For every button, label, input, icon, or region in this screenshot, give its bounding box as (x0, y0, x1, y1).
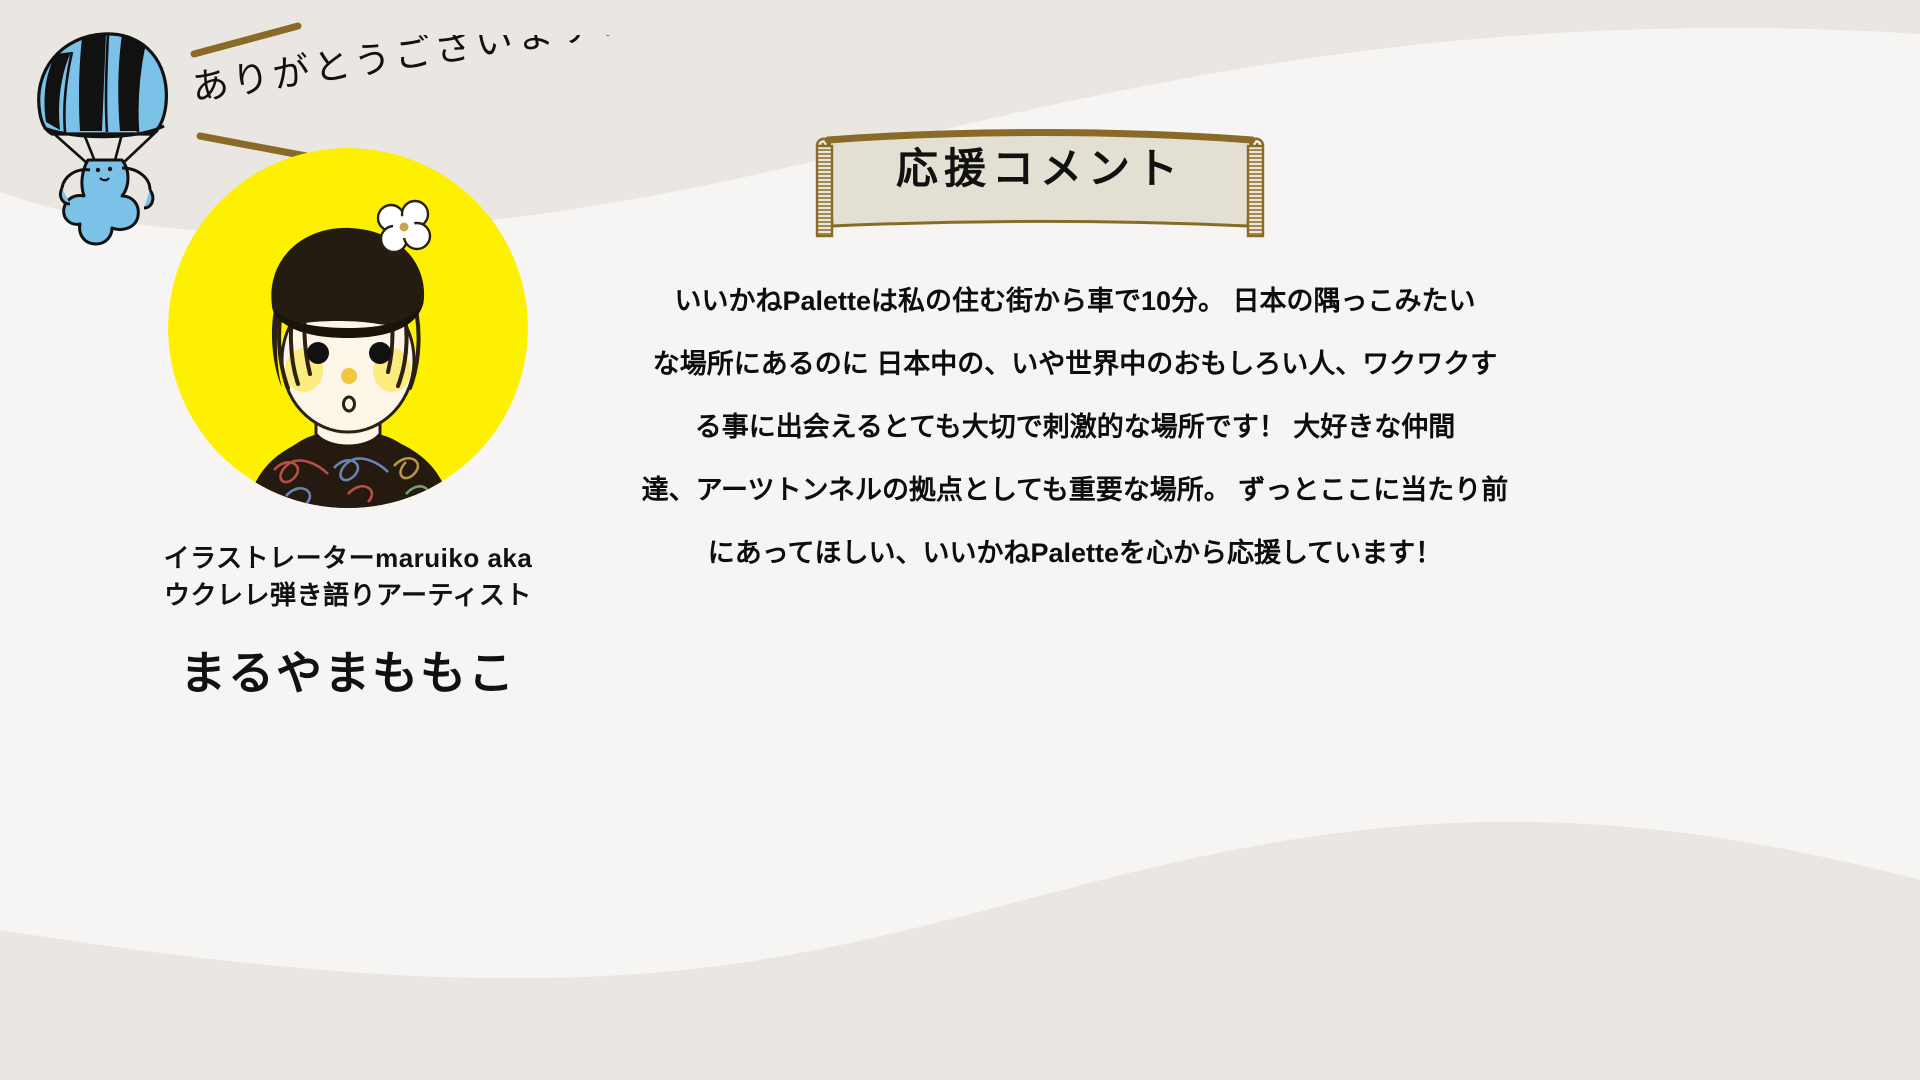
comment-line: 達、アーツトンネルの拠点としても重要な場所。 ずっとここに当たり前 (600, 477, 1550, 504)
comment-text: いいかねPaletteは私の住む街から車で10分。 日本の隅っこみたい な場所に… (600, 288, 1550, 567)
artist-caption: イラストレーターmaruiko aka ウクレレ弾き語りアーティスト まるやまも… (58, 540, 638, 698)
comment-line: る事に出会えるとても大切で刺激的な場所です！ 大好きな仲間 (600, 414, 1550, 441)
caption-line-1: イラストレーターmaruiko aka (58, 540, 638, 577)
thanks-handwriting: ありがとうございます！ (190, 35, 610, 125)
avatar (168, 148, 528, 508)
comment-line: な場所にあるのに 日本中の、いや世界中のおもしろい人、ワクワクす (600, 351, 1550, 378)
caption-line-2: ウクレレ弾き語りアーティスト (58, 577, 638, 614)
slide-canvas: ありがとうございます！ (0, 0, 1920, 1080)
artist-name: まるやまももこ (58, 648, 638, 699)
comment-line: にあってほしい、いいかねPaletteを心から応援しています！ (600, 540, 1550, 567)
avatar-image (168, 148, 528, 508)
banner-title: 応援コメント (812, 148, 1268, 190)
thanks-text: ありがとうございます！ (190, 35, 610, 110)
comment-line: いいかねPaletteは私の住む街から車で10分。 日本の隅っこみたい (600, 288, 1550, 315)
